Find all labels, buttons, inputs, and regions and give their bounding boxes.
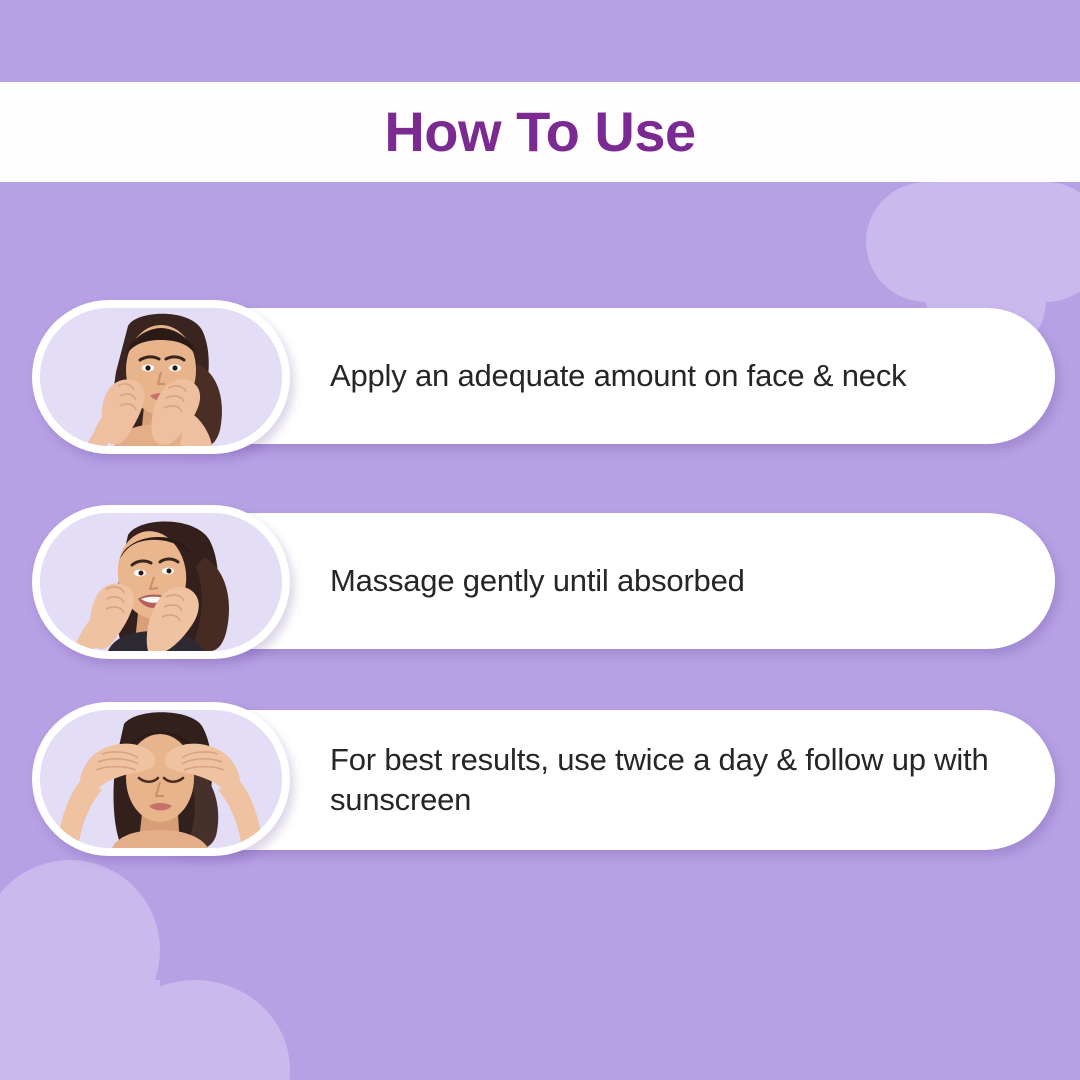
woman-applying-cream-to-cheeks-image <box>40 308 282 446</box>
list-item: Apply an adequate amount on face & neck <box>0 182 1080 387</box>
page-title: How To Use <box>384 104 695 160</box>
woman-smiling-massaging-cheeks-image <box>40 513 282 651</box>
clover-shape-bottom-left-icon <box>0 860 280 1080</box>
step-thumbnail-2 <box>32 505 290 659</box>
woman-massaging-forehead-eyes-closed-image <box>40 710 282 848</box>
steps-list: Apply an adequate amount on face & neck <box>0 182 1080 797</box>
header-band: How To Use <box>0 82 1080 182</box>
step-thumbnail-1 <box>32 300 290 454</box>
step-thumbnail-3 <box>32 702 290 856</box>
